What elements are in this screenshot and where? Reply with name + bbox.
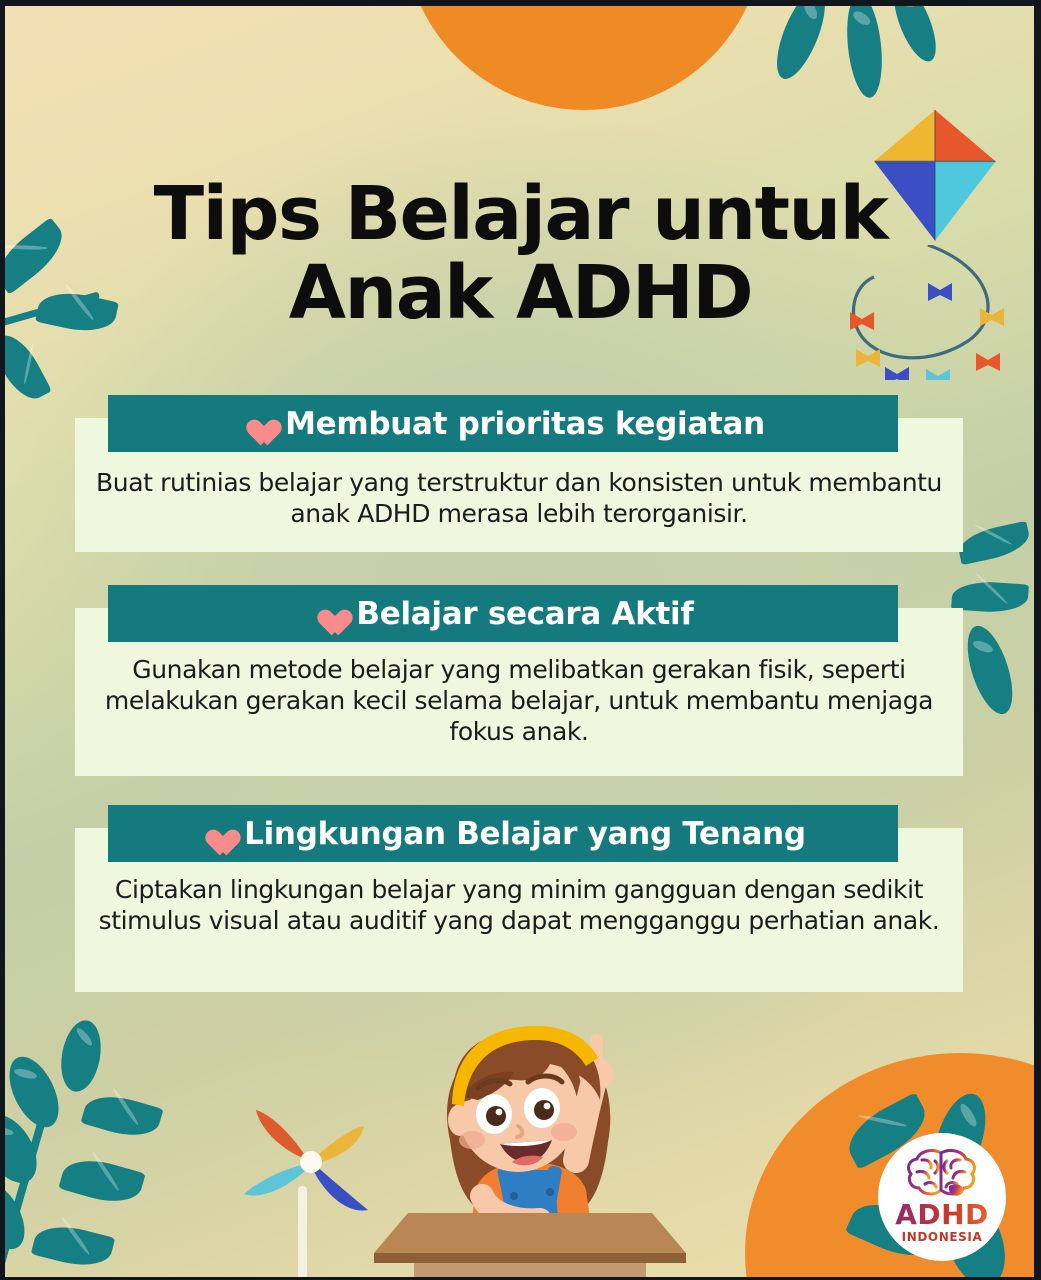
leaf-icon bbox=[0, 327, 52, 407]
frame-edge-left bbox=[0, 0, 5, 1280]
page-title: Tips Belajar untuk Anak ADHD bbox=[0, 178, 1041, 329]
leaf-icon bbox=[56, 1017, 106, 1095]
tip-card-heading: Belajar secara Aktif bbox=[356, 596, 693, 632]
frame-edge-right bbox=[1034, 0, 1041, 1280]
adhd-indonesia-logo[interactable]: ADHD INDONESIA bbox=[878, 1133, 1006, 1261]
leaf-icon bbox=[0, 1175, 35, 1257]
frame-edge-top bbox=[0, 0, 1041, 6]
logo-subtitle-text: INDONESIA bbox=[902, 1230, 983, 1244]
leaf-icon bbox=[767, 0, 834, 85]
leaf-icon bbox=[81, 1088, 164, 1144]
tip-card-heading: Membuat prioritas kegiatan bbox=[285, 406, 765, 442]
tip-card-header[interactable]: Lingkungan Belajar yang Tenang bbox=[108, 805, 898, 862]
title-line-2: Anak ADHD bbox=[0, 257, 1041, 330]
tip-card-text: Ciptakan lingkungan belajar yang minim g… bbox=[88, 875, 950, 937]
tip-card-text: Gunakan metode belajar yang melibatkan g… bbox=[88, 655, 950, 747]
tip-card-header[interactable]: Membuat prioritas kegiatan bbox=[108, 395, 898, 452]
leaf-icon bbox=[886, 0, 945, 67]
leaf-icon bbox=[959, 621, 1022, 720]
heart-icon bbox=[200, 819, 230, 846]
brain-icon bbox=[905, 1146, 979, 1200]
heart-icon bbox=[312, 599, 342, 626]
title-line-1: Tips Belajar untuk bbox=[154, 171, 888, 257]
infographic-poster: Tips Belajar untuk Anak ADHD Membuat pri… bbox=[0, 0, 1041, 1280]
leaf-icon bbox=[843, 0, 887, 99]
heart-icon bbox=[241, 409, 271, 436]
pinwheel-icon bbox=[232, 1098, 392, 1228]
tip-card-heading: Lingkungan Belajar yang Tenang bbox=[244, 816, 806, 852]
leaf-cluster-top-right bbox=[760, 0, 990, 110]
leaf-branch-bottom-left bbox=[0, 1020, 220, 1280]
leaf-cluster-right-edge bbox=[960, 520, 1041, 770]
logo-brand-text: ADHD bbox=[895, 1201, 989, 1229]
leaf-icon bbox=[956, 521, 1033, 565]
desk-illustration bbox=[370, 1205, 690, 1280]
tip-card-text: Buat rutinias belajar yang terstruktur d… bbox=[88, 468, 950, 530]
tip-card-header[interactable]: Belajar secara Aktif bbox=[108, 585, 898, 642]
leaf-icon bbox=[58, 1152, 145, 1211]
orange-circle-top-decoration bbox=[404, 0, 764, 110]
leaf-icon bbox=[31, 1219, 115, 1273]
